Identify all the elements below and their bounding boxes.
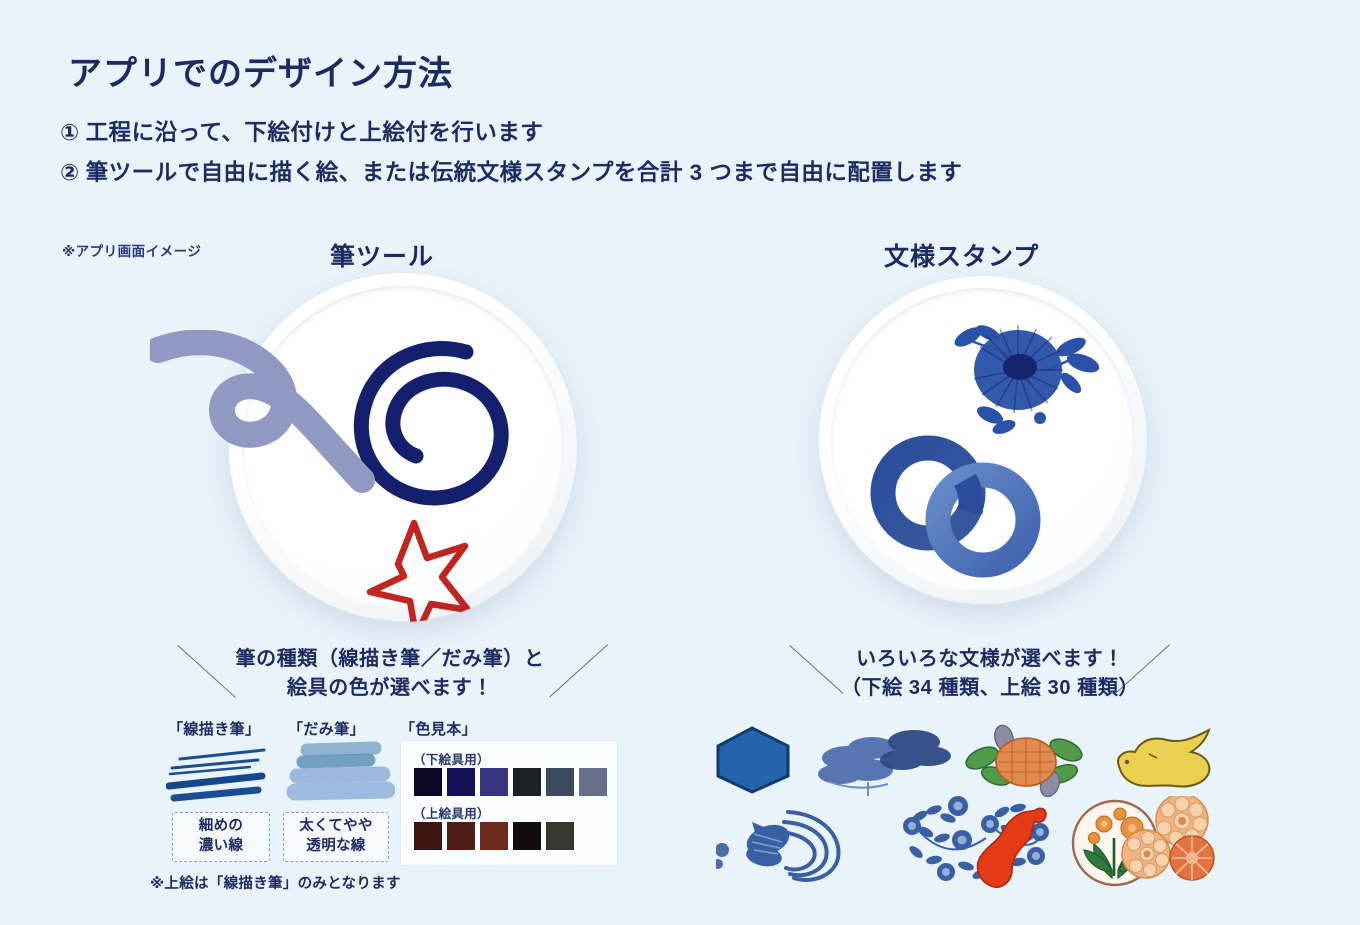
app-screen-note: ※アプリ画面イメージ bbox=[62, 240, 201, 260]
stamp-plate-svg bbox=[818, 275, 1148, 605]
interlocking-rings-stamp bbox=[883, 448, 1028, 565]
brush-footnote: ※上絵は「線描き筆」のみとなります bbox=[150, 872, 401, 893]
brush-sample-label-line: 「線描き筆」 bbox=[168, 718, 260, 739]
brush-caption: 筆の種類（線描き筆／だみ筆）と 絵具の色が選べます！ bbox=[180, 645, 600, 703]
pine-cloud-pattern-stamp[interactable] bbox=[810, 722, 955, 802]
color-swatch[interactable] bbox=[545, 821, 575, 851]
bullet-text-2: 筆ツールで自由に描く絵、または伝統文様スタンプを合計 3 つまで自由に配置します bbox=[86, 160, 963, 185]
bullet-number-1: ① bbox=[60, 120, 80, 146]
color-swatch[interactable] bbox=[512, 821, 542, 851]
overglaze-group-label: （上絵具用） bbox=[413, 803, 490, 822]
color-swatch[interactable] bbox=[545, 767, 575, 797]
stamp-caption: いろいろな文様が選べます！ （下絵 34 種類、上絵 30 種類） bbox=[800, 645, 1180, 703]
color-swatch[interactable] bbox=[512, 767, 542, 797]
stamp-plate-illustration bbox=[818, 275, 1148, 605]
color-swatch[interactable] bbox=[446, 821, 476, 851]
color-swatch[interactable] bbox=[479, 821, 509, 851]
section-title-brush: 筆ツール bbox=[330, 237, 434, 273]
stamp-pattern-gallery bbox=[700, 722, 1220, 887]
slide-canvas: アプリでのデザイン方法 ①工程に沿って、下絵付けと上絵付を行います ②筆ツールで… bbox=[0, 0, 1360, 925]
color-sample-panel: （下絵具用） （上絵具用） bbox=[400, 740, 618, 866]
pinecone-leaves-pattern-stamp[interactable] bbox=[962, 722, 1097, 802]
color-swatch[interactable] bbox=[578, 767, 608, 797]
color-swatch[interactable] bbox=[413, 767, 443, 797]
color-swatch[interactable] bbox=[413, 821, 443, 851]
underglaze-group-label: （下絵具用） bbox=[413, 749, 490, 768]
color-swatch[interactable] bbox=[479, 767, 509, 797]
underglaze-swatches[interactable] bbox=[413, 767, 608, 797]
dami-brush-stroke-sample bbox=[283, 740, 395, 806]
bullet-text-1: 工程に沿って、下絵付けと上絵付を行います bbox=[86, 120, 544, 145]
blue-floret-edge-pattern-stamp[interactable] bbox=[716, 810, 796, 880]
color-sample-title: 「色見本」 bbox=[400, 718, 477, 739]
blue-chrysanthemum-stamp bbox=[952, 322, 1102, 437]
yellow-rabbit-pattern-stamp[interactable] bbox=[1105, 724, 1225, 799]
bullet-item-1: ①工程に沿って、下絵付けと上絵付を行います bbox=[60, 115, 543, 147]
orange-chrysanthemum-pattern-stamp[interactable] bbox=[1120, 796, 1230, 888]
section-title-stamp: 文様スタンプ bbox=[884, 237, 1039, 273]
red-star-outline bbox=[370, 523, 468, 622]
bullet-number-2: ② bbox=[60, 160, 80, 186]
hexagon-pattern-stamp[interactable] bbox=[710, 724, 795, 796]
color-swatch[interactable] bbox=[446, 767, 476, 797]
line-brush-stroke-sample bbox=[166, 742, 276, 804]
stamp-plate-artwork-area bbox=[818, 275, 1148, 605]
bullet-item-2: ②筆ツールで自由に描く絵、または伝統文様スタンプを合計 3 つまで自由に配置しま… bbox=[60, 155, 962, 187]
lavender-squiggle-stroke bbox=[150, 330, 410, 530]
page-title: アプリでのデザイン方法 bbox=[68, 46, 453, 95]
red-gourd-pattern-stamp[interactable] bbox=[962, 802, 1062, 888]
dami-brush-description: 太くてやや 透明な線 bbox=[283, 812, 389, 862]
overglaze-swatches[interactable] bbox=[413, 821, 575, 851]
brush-sample-label-dami: 「だみ筆」 bbox=[288, 718, 365, 739]
line-brush-description: 細めの 濃い線 bbox=[172, 812, 270, 862]
